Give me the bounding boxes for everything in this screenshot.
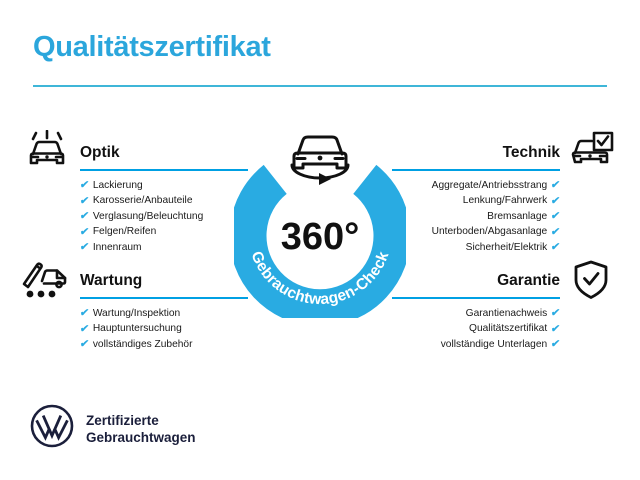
list-item: ✔ Felgen/Reifen <box>80 224 248 239</box>
page-title: Qualitätszertifikat <box>33 31 271 64</box>
list-item: ✔ Wartung/Inspektion <box>80 306 248 321</box>
footer-line-2: Gebrauchtwagen <box>86 430 196 445</box>
check-icon: ✔ <box>79 308 89 319</box>
list-item: ✔ Innenraum <box>80 240 248 255</box>
list-item-label: Wartung/Inspektion <box>93 306 180 321</box>
section-wartung-items: ✔ Wartung/Inspektion ✔ Hauptuntersuchung… <box>80 306 248 352</box>
list-item-label: Lenkung/Fahrwerk <box>463 193 547 208</box>
section-technik-header: Technik <box>392 143 560 167</box>
check-icon: ✔ <box>550 242 560 253</box>
section-wartung-title: Wartung <box>80 271 248 291</box>
section-optik-items: ✔ Lackierung ✔ Karosserie/Anbauteile ✔ V… <box>80 178 248 255</box>
list-item-label: Lackierung <box>93 178 143 193</box>
list-item-label: Qualitätszertifikat <box>469 321 547 336</box>
list-item-label: Bremsanlage <box>487 209 547 224</box>
list-item: Garantienachweis ✔ <box>392 306 560 321</box>
section-garantie: Garantie Garantienachweis ✔ Qualitätszer… <box>392 271 560 352</box>
check-icon: ✔ <box>550 211 560 222</box>
section-garantie-header: Garantie <box>392 271 560 295</box>
list-item: Sicherheit/Elektrik ✔ <box>392 240 560 255</box>
list-item-label: Garantienachweis <box>466 306 548 321</box>
section-optik-header: Optik <box>80 143 248 167</box>
badge-360-gebrauchtwagen-check: 360° Gebrauchtwagen-Check <box>234 122 406 318</box>
check-icon: ✔ <box>79 339 89 350</box>
check-icon: ✔ <box>79 242 89 253</box>
check-icon: ✔ <box>79 211 89 222</box>
check-icon: ✔ <box>550 196 560 207</box>
section-technik-underline <box>392 169 560 171</box>
section-garantie-underline <box>392 297 560 299</box>
list-item-label: Aggregate/Antriebsstrang <box>432 178 548 193</box>
list-item-label: Felgen/Reifen <box>93 224 156 239</box>
check-icon: ✔ <box>550 339 560 350</box>
vw-roundel-icon <box>30 404 74 453</box>
list-item: Lenkung/Fahrwerk ✔ <box>392 193 560 208</box>
check-icon: ✔ <box>79 196 89 207</box>
list-item-label: Sicherheit/Elektrik <box>466 240 548 255</box>
section-garantie-title: Garantie <box>392 271 560 291</box>
check-icon: ✔ <box>79 324 89 335</box>
list-item: ✔ Lackierung <box>80 178 248 193</box>
shield-check-icon <box>572 259 610 306</box>
check-icon: ✔ <box>79 227 89 238</box>
check-icon: ✔ <box>550 180 560 191</box>
check-icon: ✔ <box>550 324 560 335</box>
list-item-label: Unterboden/Abgasanlage <box>432 224 548 239</box>
certificate-page: Qualitätszertifikat <box>0 0 640 480</box>
footer-line-1: Zertifizierte <box>86 413 159 428</box>
list-item-label: vollständiges Zubehör <box>93 337 193 352</box>
check-icon: ✔ <box>550 227 560 238</box>
list-item: vollständige Unterlagen ✔ <box>392 337 560 352</box>
list-item: Aggregate/Antriebsstrang ✔ <box>392 178 560 193</box>
sparkle-car-icon <box>24 130 70 175</box>
list-item-label: Hauptuntersuchung <box>93 321 182 336</box>
list-item: Unterboden/Abgasanlage ✔ <box>392 224 560 239</box>
car-checkbox-icon <box>568 131 616 174</box>
list-item: Bremsanlage ✔ <box>392 209 560 224</box>
list-item: ✔ Karosserie/Anbauteile <box>80 193 248 208</box>
footer-text: Zertifizierte Gebrauchtwagen <box>86 412 196 446</box>
check-icon: ✔ <box>79 180 89 191</box>
list-item: Qualitätszertifikat ✔ <box>392 321 560 336</box>
section-optik: Optik ✔ Lackierung ✔ Karosserie/Anbautei… <box>80 143 248 255</box>
section-wartung: Wartung ✔ Wartung/Inspektion ✔ Hauptunte… <box>80 271 248 352</box>
section-garantie-items: Garantienachweis ✔ Qualitätszertifikat ✔… <box>392 306 560 352</box>
list-item-label: vollständige Unterlagen <box>441 337 547 352</box>
footer-logo: Zertifizierte Gebrauchtwagen <box>30 404 196 453</box>
list-item: ✔ Hauptuntersuchung <box>80 321 248 336</box>
section-wartung-header: Wartung <box>80 271 248 295</box>
list-item: ✔ vollständiges Zubehör <box>80 337 248 352</box>
service-record-car-icon <box>20 259 70 306</box>
section-technik-title: Technik <box>392 143 560 163</box>
list-item: ✔ Verglasung/Beleuchtung <box>80 209 248 224</box>
section-technik-items: Aggregate/Antriebsstrang ✔ Lenkung/Fahrw… <box>392 178 560 255</box>
list-item-label: Karosserie/Anbauteile <box>93 193 193 208</box>
badge-center-text: 360° <box>281 216 360 258</box>
list-item-label: Innenraum <box>93 240 142 255</box>
header-divider <box>33 85 607 87</box>
check-icon: ✔ <box>550 308 560 319</box>
section-optik-underline <box>80 169 248 171</box>
section-technik: Technik Aggregate/Antriebsstrang ✔ Lenku… <box>392 143 560 255</box>
section-optik-title: Optik <box>80 143 248 163</box>
section-wartung-underline <box>80 297 248 299</box>
list-item-label: Verglasung/Beleuchtung <box>93 209 203 224</box>
